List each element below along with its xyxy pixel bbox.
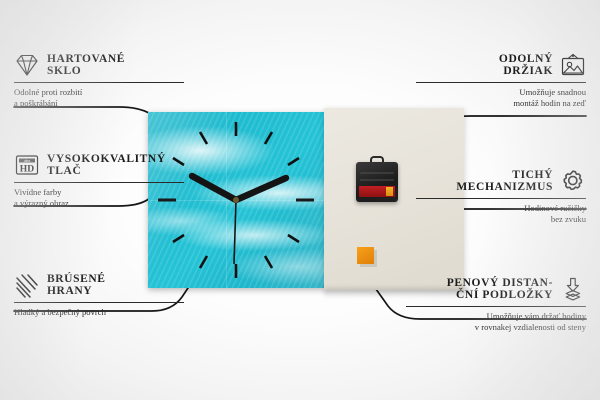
hour-marker-7 bbox=[200, 256, 207, 268]
clock-hand-minute bbox=[236, 178, 286, 200]
feature-header: ODOLNÝ DRŽIAK bbox=[416, 52, 586, 78]
feature-desc-line2: bez zvuku bbox=[416, 214, 586, 225]
clock-center-cap bbox=[233, 197, 239, 203]
hour-marker-4 bbox=[288, 235, 299, 242]
gear-icon bbox=[560, 168, 586, 194]
hour-marker-1 bbox=[265, 132, 272, 144]
hour-marker-2 bbox=[288, 158, 299, 165]
feature-header: PENOVÝ DISTAN- ČNÍ PODLOŽKY bbox=[406, 276, 586, 302]
feature-desc-line1: Hodinové ručičky bbox=[416, 203, 586, 214]
divider bbox=[416, 198, 586, 199]
diamond-icon bbox=[14, 52, 40, 78]
feature-title: ODOLNÝ DRŽIAK bbox=[499, 53, 553, 78]
clock-hand-second bbox=[234, 200, 236, 264]
feature-desc-line1: Odolné proti rozbití bbox=[14, 87, 184, 98]
wall-hanger-icon bbox=[560, 52, 586, 78]
divider bbox=[14, 82, 184, 83]
feature-brusene-hrany: BRÚSENÉ HRANY Hladký a bezpečný povrch bbox=[14, 272, 184, 318]
foam-spacer-pad bbox=[357, 247, 374, 264]
ultra-hd-icon: ultra HD bbox=[14, 152, 40, 178]
hour-marker-8 bbox=[173, 235, 184, 242]
infographic-stage: HARTOVANÉ SKLO Odolné proti rozbití a po… bbox=[0, 0, 600, 400]
divider bbox=[14, 302, 184, 303]
feature-desc-line2: v rovnakej vzdialenosti od steny bbox=[406, 322, 586, 333]
battery bbox=[359, 186, 395, 197]
feature-vysokokvalitny-tlac: ultra HD VYSOKOKVALITNÝ TLAČ Vivídne far… bbox=[14, 152, 184, 208]
hour-marker-11 bbox=[200, 132, 207, 144]
hour-marker-5 bbox=[265, 256, 272, 268]
divider bbox=[416, 82, 586, 83]
feature-header: HARTOVANÉ SKLO bbox=[14, 52, 184, 78]
feature-hartovane-sklo: HARTOVANÉ SKLO Odolné proti rozbití a po… bbox=[14, 52, 184, 108]
hd-label: HD bbox=[20, 164, 34, 175]
feature-desc-line1: Hladký a bezpečný povrch bbox=[14, 307, 184, 318]
feature-header: ultra HD VYSOKOKVALITNÝ TLAČ bbox=[14, 152, 184, 178]
feature-title: PENOVÝ DISTAN- ČNÍ PODLOŽKY bbox=[447, 277, 553, 302]
feature-desc-line1: Umožňuje vám držať hodiny bbox=[406, 311, 586, 322]
divider bbox=[14, 182, 184, 183]
feature-header: BRÚSENÉ HRANY bbox=[14, 272, 184, 298]
feature-tichy-mechanizmus: TICHÝ MECHANIZMUS Hodinové ručičky bez z… bbox=[416, 168, 586, 224]
divider bbox=[406, 306, 586, 307]
feature-desc-line1: Vivídne farby bbox=[14, 187, 184, 198]
clock-hand-hour bbox=[192, 176, 236, 200]
feature-title: TICHÝ MECHANIZMUS bbox=[456, 169, 553, 194]
feature-desc-line2: a výrazný obraz bbox=[14, 198, 184, 209]
clock-mechanism bbox=[356, 156, 398, 202]
beveled-edges-icon bbox=[14, 272, 40, 298]
feature-odolny-drziak: ODOLNÝ DRŽIAK Umožňuje snadnou montáž ho… bbox=[416, 52, 586, 108]
feature-desc-line1: Umožňuje snadnou bbox=[416, 87, 586, 98]
foam-spacer-icon bbox=[560, 276, 586, 302]
feature-title: VYSOKOKVALITNÝ TLAČ bbox=[47, 153, 166, 178]
feature-desc-line2: a poškrábání bbox=[14, 98, 184, 109]
feature-penove-podlozky: PENOVÝ DISTAN- ČNÍ PODLOŽKY Umožňuje vám… bbox=[406, 276, 586, 332]
feature-title: HARTOVANÉ SKLO bbox=[47, 53, 125, 78]
feature-title: BRÚSENÉ HRANY bbox=[47, 273, 106, 298]
feature-desc-line2: montáž hodin na zeď bbox=[416, 98, 586, 109]
feature-header: TICHÝ MECHANIZMUS bbox=[416, 168, 586, 194]
ultra-label: ultra bbox=[24, 159, 31, 163]
